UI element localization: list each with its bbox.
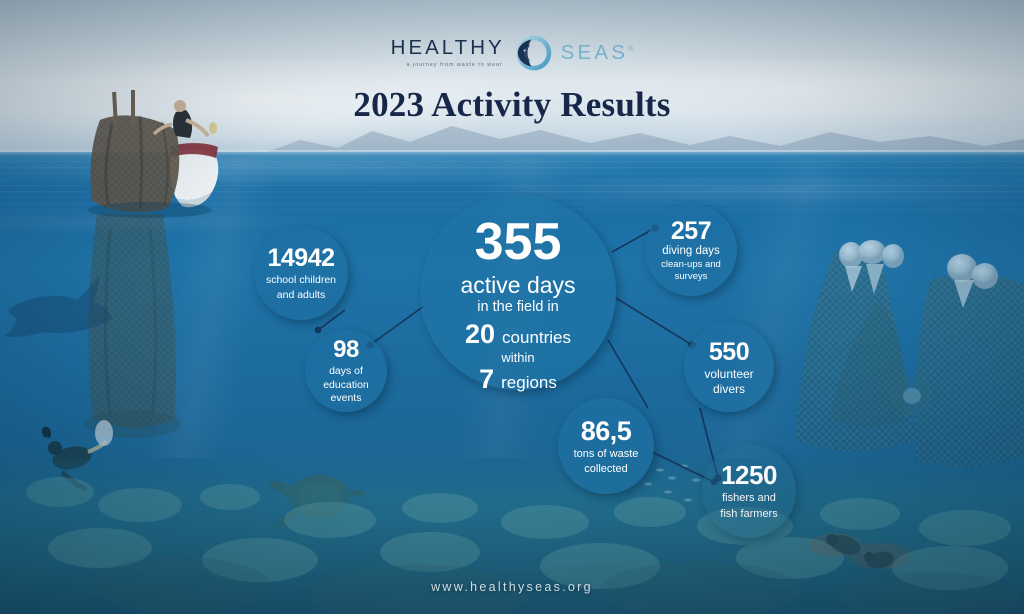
countries-row: 20 countries <box>465 320 571 348</box>
diving-days-label-2: clean-ups and <box>661 260 721 270</box>
logo-healthy-text: HEALTHY <box>391 38 505 59</box>
header: HEALTHY a journey from waste to wear SEA… <box>0 30 1024 125</box>
education-days-label-2: education <box>323 380 369 391</box>
waste-label-1: tons of waste <box>574 449 639 460</box>
stat-bubble-diving-days[interactable]: 257 diving days clean-ups and surveys <box>645 204 737 296</box>
stat-bubble-education-days[interactable]: 98 days of education events <box>305 330 387 412</box>
countries-label: countries <box>502 329 571 347</box>
school-children-number: 14942 <box>267 245 334 271</box>
logo-seas-text: SEAS <box>561 41 629 64</box>
school-children-label-1: school children <box>266 275 336 286</box>
school-children-label-2: and adults <box>277 290 325 301</box>
logo-seas-group: SEAS® <box>561 41 634 65</box>
stat-bubble-fishers[interactable]: 1250 fishers and fish farmers <box>702 444 796 538</box>
healthy-seas-logo[interactable]: HEALTHY a journey from waste to wear SEA… <box>0 30 1024 76</box>
logo-tagline: a journey from waste to wear <box>407 63 503 68</box>
education-days-number: 98 <box>333 338 359 363</box>
stat-bubble-active-days[interactable]: 355 active days in the field in 20 count… <box>420 194 616 390</box>
healthy-seas-fish-ring-icon <box>512 32 554 74</box>
diving-days-number: 257 <box>671 218 711 244</box>
volunteer-divers-label-2: divers <box>713 383 745 395</box>
education-days-label-1: days of <box>329 366 363 377</box>
volunteer-divers-label-1: volunteer <box>704 368 753 380</box>
logo-left-group: HEALTHY a journey from waste to wear <box>391 38 505 68</box>
footer-website[interactable]: www.healthyseas.org <box>0 580 1024 594</box>
stat-bubble-volunteer-divers[interactable]: 550 volunteer divers <box>684 322 774 412</box>
active-days-label: active days <box>460 274 575 298</box>
education-days-label-3: events <box>331 393 362 404</box>
stat-bubble-waste-collected[interactable]: 86,5 tons of waste collected <box>558 398 654 494</box>
diving-days-label-1: diving days <box>662 246 720 258</box>
waste-label-2: collected <box>584 464 627 475</box>
fishers-label-2: fish farmers <box>720 509 777 520</box>
stat-bubble-school-children[interactable]: 14942 school children and adults <box>254 226 348 320</box>
countries-number: 20 <box>465 320 495 348</box>
within-label: within <box>501 351 534 365</box>
fishers-number: 1250 <box>721 462 777 489</box>
logo-registered-mark: ® <box>628 46 633 53</box>
active-days-number: 355 <box>475 216 562 268</box>
infographic-canvas: 355 active days in the field in 20 count… <box>0 0 1024 614</box>
waste-number: 86,5 <box>581 417 632 445</box>
diving-days-label-3: surveys <box>675 272 708 282</box>
regions-row: 7 regions <box>479 365 557 393</box>
regions-number: 7 <box>479 365 494 393</box>
page-title: 2023 Activity Results <box>0 85 1024 125</box>
volunteer-divers-number: 550 <box>709 339 749 365</box>
fishers-label-1: fishers and <box>722 493 776 504</box>
active-days-sublabel: in the field in <box>477 300 558 315</box>
regions-label: regions <box>501 374 557 392</box>
